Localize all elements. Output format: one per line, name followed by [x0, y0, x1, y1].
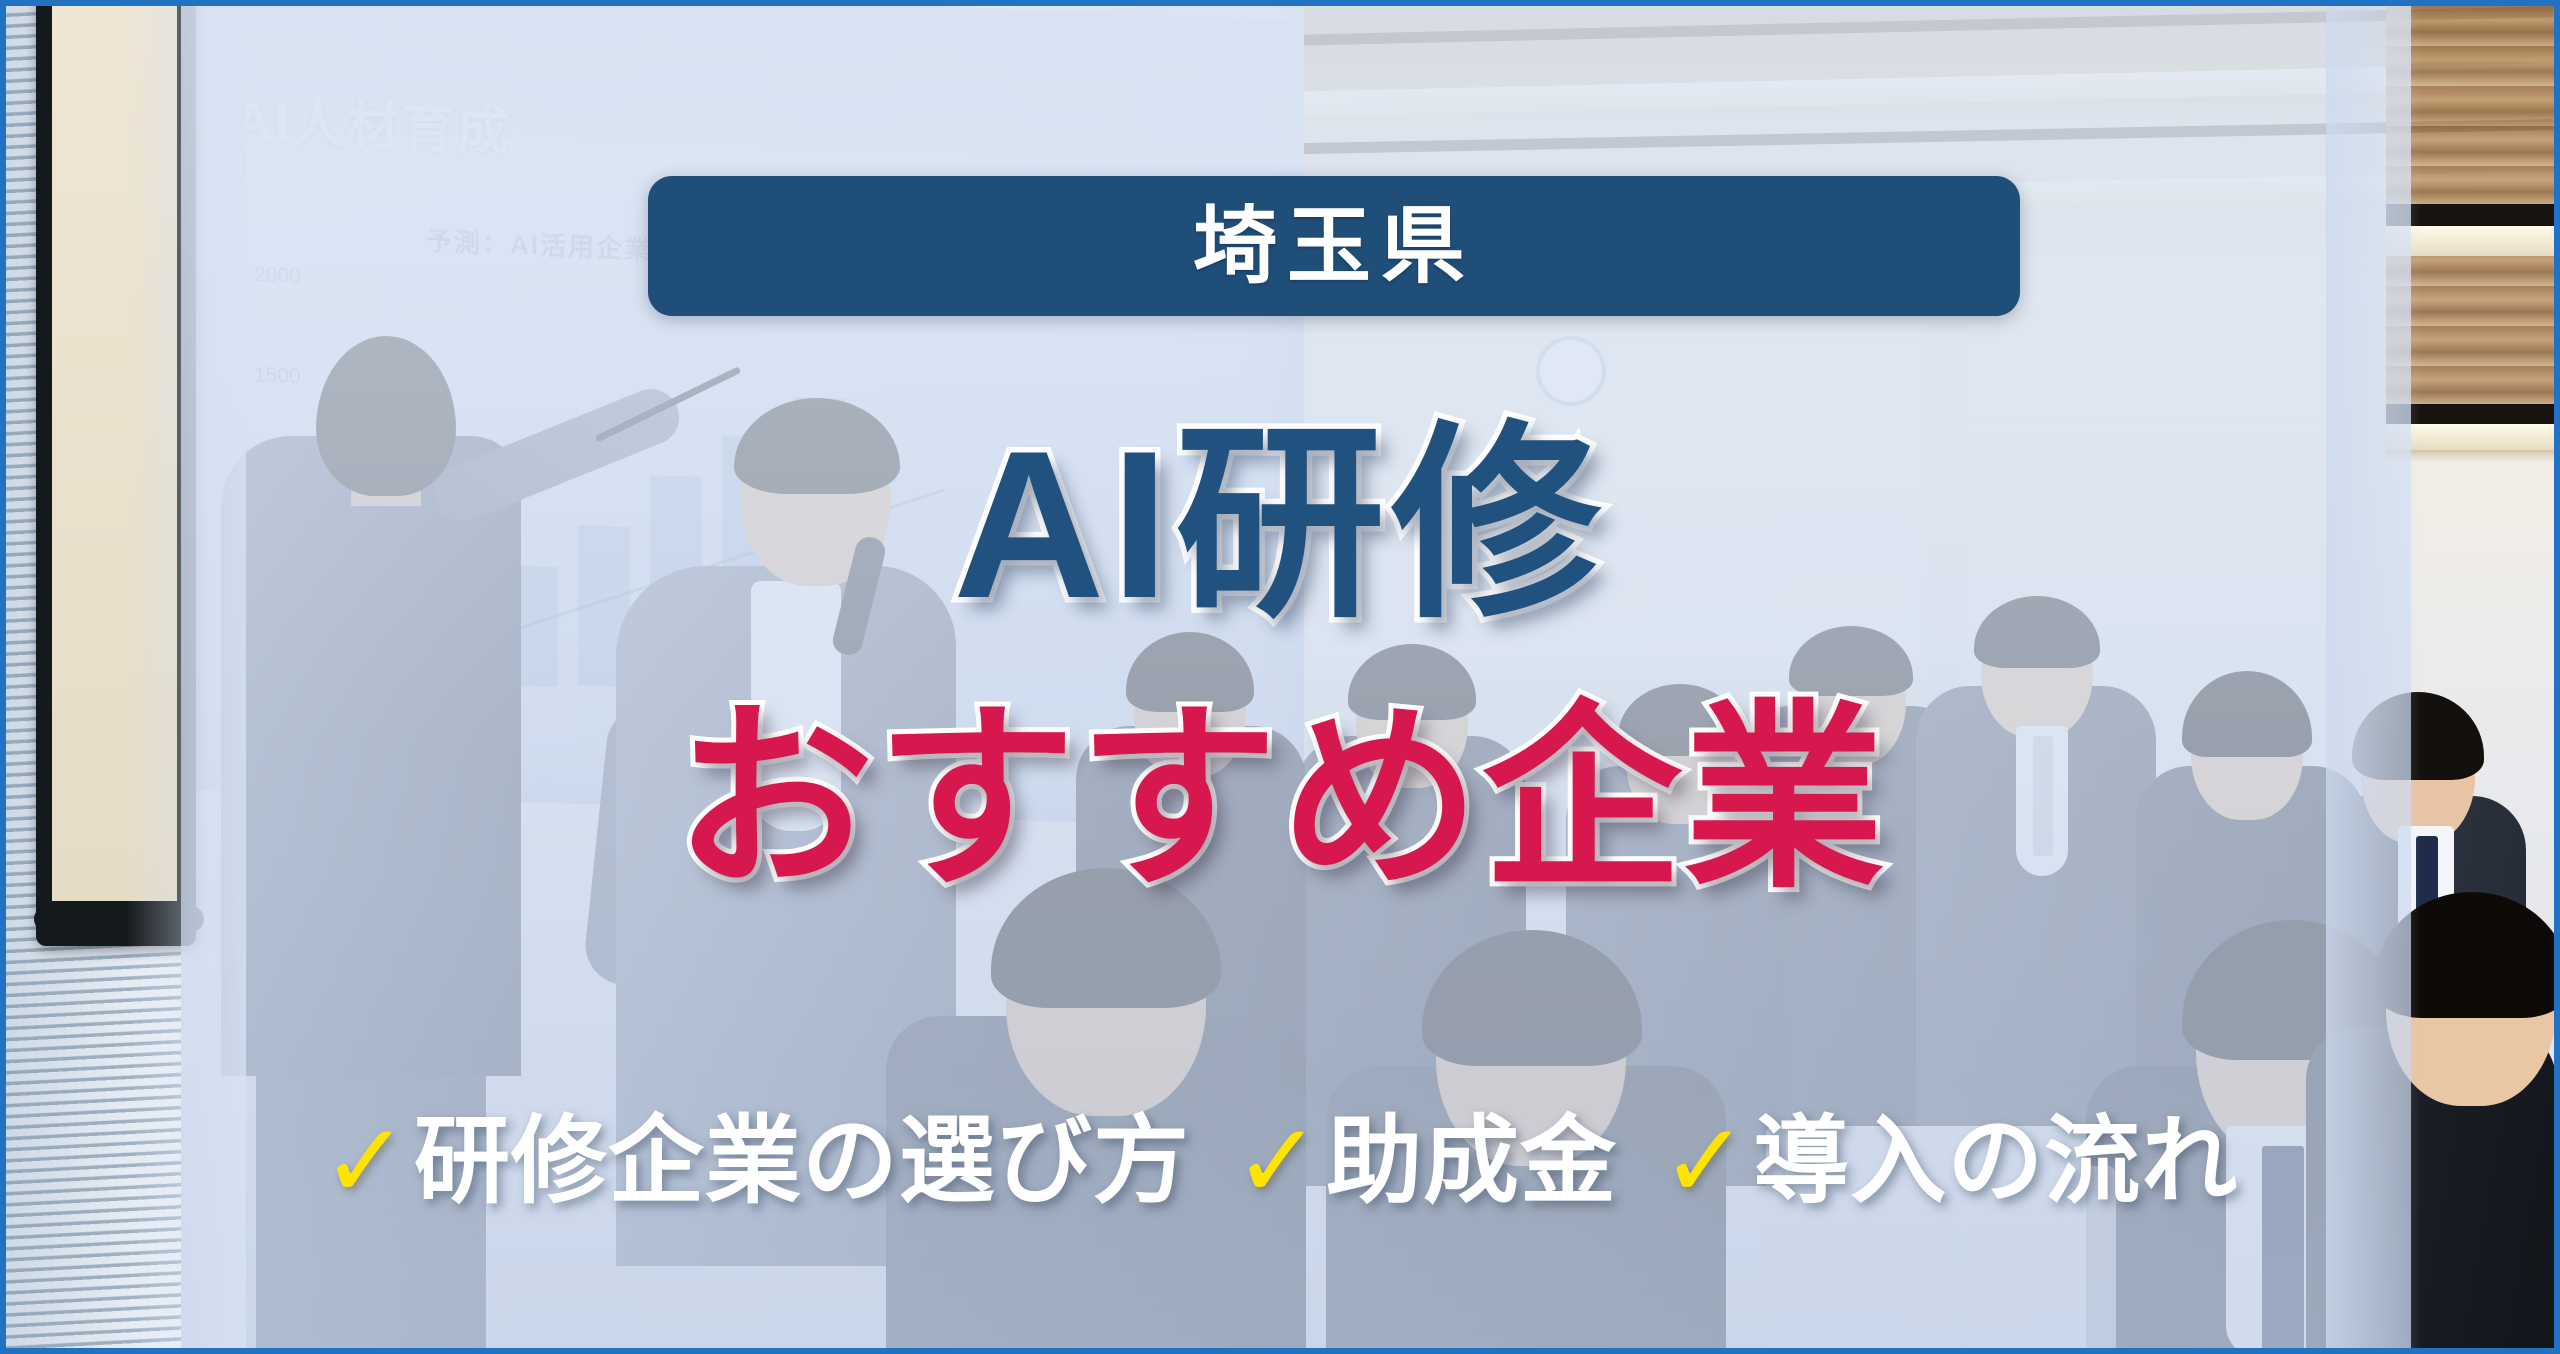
feature-bullet-1: ✓ 研修企業の選び方 [322, 1110, 1190, 1214]
eyecatch-canvas: AI人材育成 予測：AI活用企業実績伸び率 2000 1500 1000 AI導… [0, 0, 2560, 1354]
feature-bullet-1-label: 研修企業の選び方 [414, 1114, 1190, 1210]
check-icon: ✓ [322, 1110, 410, 1214]
prefecture-badge: 埼玉県 [648, 176, 2020, 316]
feature-bullet-3-label: 導入の流れ [1753, 1114, 2238, 1210]
feature-bullet-2: ✓ 助成金 [1234, 1110, 1617, 1214]
feature-bullet-3: ✓ 導入の流れ [1661, 1110, 2238, 1214]
check-icon: ✓ [1234, 1110, 1322, 1214]
headline-line-1: AI研修 [0, 420, 2560, 630]
check-icon: ✓ [1661, 1110, 1749, 1214]
headline-line-2: おすすめ企業 [0, 700, 2560, 900]
feature-bullets: ✓ 研修企業の選び方 ✓ 助成金 ✓ 導入の流れ [0, 1110, 2560, 1214]
prefecture-badge-label: 埼玉県 [1193, 204, 1475, 288]
feature-bullet-2-label: 助成金 [1326, 1114, 1617, 1210]
